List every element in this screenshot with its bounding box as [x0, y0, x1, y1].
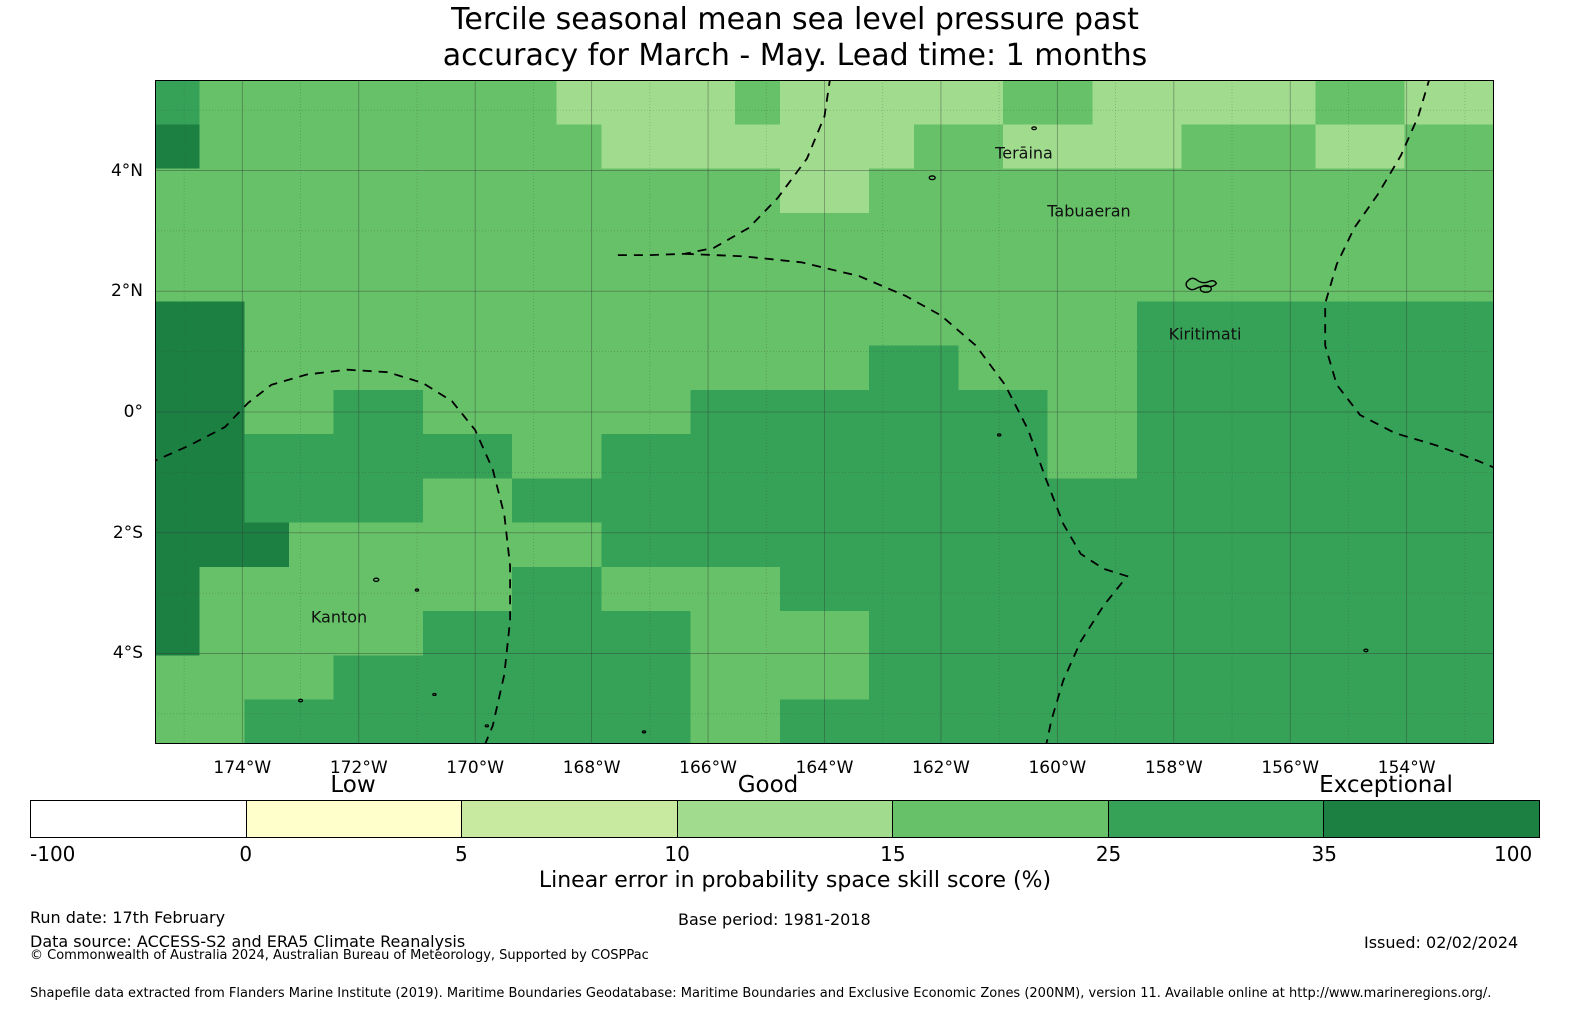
island-label-kiritimati: Kiritimati [1169, 325, 1242, 344]
shapefile-attribution: Shapefile data extracted from Flanders M… [30, 986, 1491, 1001]
page-title: Tercile seasonal mean sea level pressure… [0, 2, 1590, 74]
quality-label-exceptional: Exceptional [1319, 772, 1453, 798]
map-panel[interactable] [155, 80, 1494, 744]
colorbar-tick-35: 35 [1312, 842, 1337, 866]
lat-tick-2S: 2°S [23, 523, 143, 543]
quality-label-good: Good [738, 772, 799, 798]
colorbar-tick-15: 15 [880, 842, 905, 866]
colorbar-tick-10: 10 [664, 842, 689, 866]
lat-tick-0: 0° [23, 402, 143, 422]
colorbar-tick-0: 0 [239, 842, 252, 866]
colorbar-segment-35-to-100[interactable] [1323, 801, 1539, 837]
colorbar-segment--100-to-0[interactable] [31, 801, 246, 837]
lon-tick-168W: 168°W [563, 758, 621, 778]
title-line-1: Tercile seasonal mean sea level pressure… [0, 2, 1590, 38]
lon-tick-158W: 158°W [1145, 758, 1203, 778]
colorbar-tick-neg100: -100 [30, 842, 75, 866]
colorbar-segment-25-to-35[interactable] [1108, 801, 1324, 837]
issued-date: Issued: 02/02/2024 [1364, 933, 1518, 952]
colorbar[interactable] [30, 800, 1540, 838]
lon-tick-156W: 156°W [1261, 758, 1319, 778]
colorbar-tick-25: 25 [1096, 842, 1121, 866]
colorbar-tick-100: 100 [1494, 842, 1532, 866]
lat-tick-4N: 4°N [23, 161, 143, 181]
island-label-terina: Terāina [995, 144, 1053, 163]
base-period: Base period: 1981-2018 [678, 910, 871, 929]
lon-tick-160W: 160°W [1028, 758, 1086, 778]
colorbar-segment-10-to-15[interactable] [677, 801, 893, 837]
colorbar-segment-0-to-5[interactable] [246, 801, 462, 837]
lat-tick-4S: 4°S [23, 643, 143, 663]
colorbar-segment-15-to-25[interactable] [892, 801, 1108, 837]
lon-tick-166W: 166°W [679, 758, 737, 778]
lon-tick-170W: 170°W [446, 758, 504, 778]
lon-tick-162W: 162°W [912, 758, 970, 778]
colorbar-tick-5: 5 [455, 842, 468, 866]
colorbar-segment-5-to-10[interactable] [461, 801, 677, 837]
map-vector-overlay [155, 80, 1494, 744]
copyright-notice: © Commonwealth of Australia 2024, Austra… [30, 948, 649, 963]
colorbar-title: Linear error in probability space skill … [0, 868, 1590, 893]
run-date: Run date: 17th February [30, 908, 225, 927]
island-label-tabuaeran: Tabuaeran [1047, 202, 1130, 221]
lat-tick-2N: 2°N [23, 281, 143, 301]
title-line-2: accuracy for March - May. Lead time: 1 m… [0, 38, 1590, 74]
quality-label-low: Low [330, 772, 375, 798]
lon-tick-174W: 174°W [213, 758, 271, 778]
island-label-kanton: Kanton [311, 608, 367, 627]
lon-tick-164W: 164°W [796, 758, 854, 778]
